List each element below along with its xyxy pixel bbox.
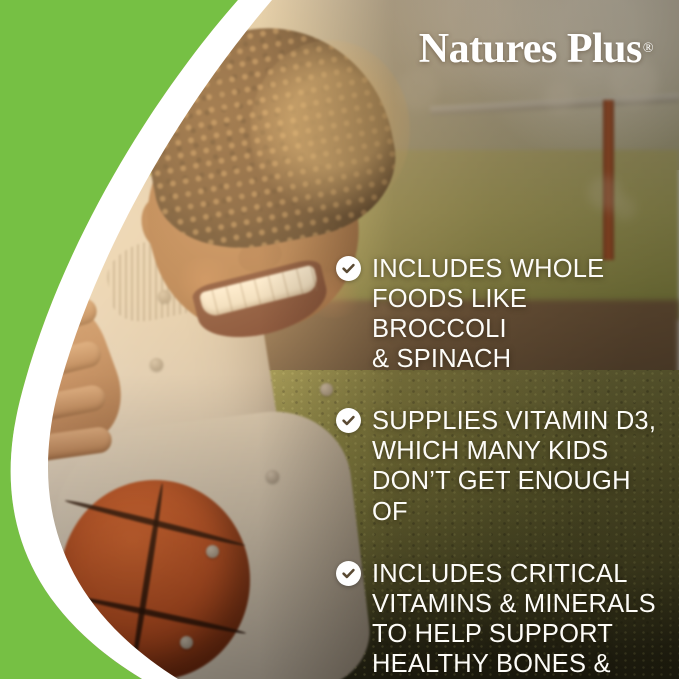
benefit-text: INCLUDES WHOLE FOODS LIKE BROCCOLI & SPI… [372,254,666,374]
benefits-list: INCLUDES WHOLE FOODS LIKE BROCCOLI & SPI… [336,254,666,679]
check-circle-icon [336,408,361,433]
benefit-item: INCLUDES WHOLE FOODS LIKE BROCCOLI & SPI… [336,254,666,374]
benefit-item: SUPPLIES VITAMIN D3, WHICH MANY KIDS DON… [336,406,666,526]
benefit-text: INCLUDES CRITICAL VITAMINS & MINERALS TO… [372,559,656,679]
check-circle-icon [336,256,361,281]
benefit-item: INCLUDES CRITICAL VITAMINS & MINERALS TO… [336,559,666,679]
product-benefits-banner: Natures Plus® INCLUDES WHOLE FOODS LIKE … [0,0,679,679]
brand-logo: Natures Plus® [419,28,653,70]
brand-logo-text: Natures Plus [419,26,642,72]
benefit-text: SUPPLIES VITAMIN D3, WHICH MANY KIDS DON… [372,406,666,526]
check-circle-icon [336,561,361,586]
registered-trademark-icon: ® [643,41,653,56]
